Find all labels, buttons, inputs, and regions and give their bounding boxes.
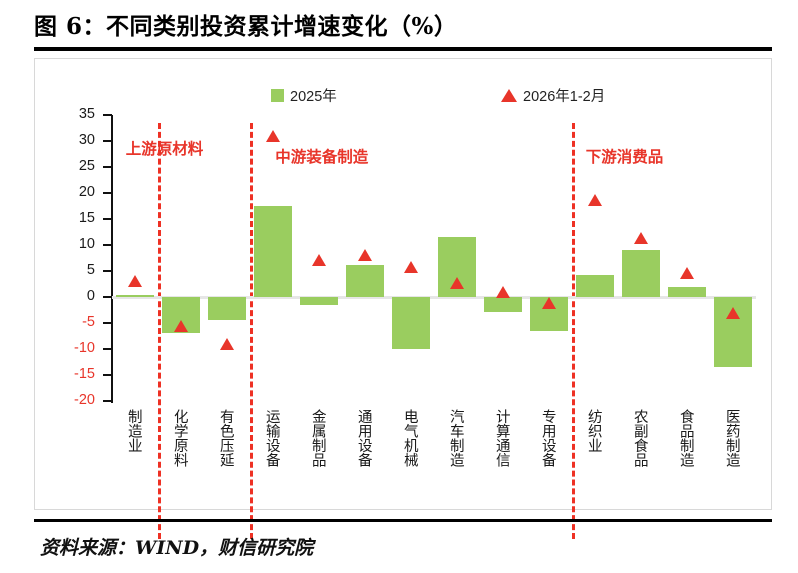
x-axis-label-纺织业: 纺织业: [586, 409, 601, 453]
legend-item-2025: 2025年: [271, 85, 337, 106]
bar-农副食品: [622, 250, 660, 297]
source-note: 资料来源：WIND，财信研究院: [40, 533, 313, 560]
y-axis-tick: [103, 114, 112, 116]
y-axis-tick-label: 10: [55, 236, 95, 252]
y-axis-tick: [103, 296, 112, 298]
x-axis-label-制造业: 制造业: [126, 409, 141, 453]
y-axis-tick: [103, 400, 112, 402]
chart-container: 2025年 2026年1-2月 35302520151050-5-10-15-2…: [34, 58, 772, 510]
x-axis-label-电气机械: 电气机械: [402, 409, 417, 467]
bar-电气机械: [392, 297, 430, 349]
bar-纺织业: [576, 275, 614, 297]
figure-page: 图 6：不同类别投资累计增速变化（%） 2025年 2026年1-2月 3530…: [0, 0, 798, 573]
x-axis-label-有色压延: 有色压延: [218, 409, 233, 467]
y-axis-tick-label: 30: [55, 132, 95, 148]
x-axis-label-化学原料: 化学原料: [172, 409, 187, 467]
y-axis-tick-label: -5: [55, 314, 95, 330]
marker-纺织业: [588, 194, 602, 206]
bar-食品制造: [668, 287, 706, 297]
triangle-swatch-icon: [501, 89, 517, 102]
x-axis-label-专用设备: 专用设备: [540, 409, 555, 467]
bar-有色压延: [208, 297, 246, 320]
y-axis-tick-label: -10: [55, 340, 95, 356]
x-axis-label-金属制品: 金属制品: [310, 409, 325, 467]
y-axis-tick: [103, 348, 112, 350]
y-axis-tick-label: 5: [55, 262, 95, 278]
y-axis-tick-label: 25: [55, 158, 95, 174]
title-divider-rule: [34, 47, 772, 51]
y-axis-tick: [103, 270, 112, 272]
x-axis-label-医药制造: 医药制造: [724, 409, 739, 467]
bar-运输设备: [254, 206, 292, 297]
footer-divider-rule: [34, 519, 772, 522]
figure-title-container: 图 6：不同类别投资累计增速变化（%）: [34, 10, 774, 48]
x-axis-label-通用设备: 通用设备: [356, 409, 371, 467]
legend-label-2026: 2026年1-2月: [523, 85, 605, 106]
legend-label-2025: 2025年: [290, 85, 337, 106]
marker-汽车制造: [450, 277, 464, 289]
page-title: 图 6：不同类别投资累计增速变化（%）: [34, 10, 774, 44]
y-axis-tick: [103, 244, 112, 246]
y-axis-tick: [103, 140, 112, 142]
y-axis-tick-label: 35: [55, 106, 95, 122]
y-axis-tick: [103, 192, 112, 194]
x-axis-label-计算通信: 计算通信: [494, 409, 509, 467]
y-axis-tick-label: 0: [55, 288, 95, 304]
marker-专用设备: [542, 297, 556, 309]
bar-通用设备: [346, 265, 384, 297]
bar-计算通信: [484, 297, 522, 312]
y-axis-tick: [103, 218, 112, 220]
marker-制造业: [128, 275, 142, 287]
marker-电气机械: [404, 261, 418, 273]
y-axis-tick-label: -20: [55, 392, 95, 408]
y-axis-tick: [103, 374, 112, 376]
marker-化学原料: [174, 320, 188, 332]
marker-计算通信: [496, 286, 510, 298]
x-axis-label-农副食品: 农副食品: [632, 409, 647, 467]
marker-运输设备: [266, 130, 280, 142]
x-axis-label-汽车制造: 汽车制造: [448, 409, 463, 467]
marker-金属制品: [312, 254, 326, 266]
marker-通用设备: [358, 249, 372, 261]
legend-item-2026: 2026年1-2月: [501, 85, 605, 106]
bar-制造业: [116, 295, 154, 297]
bar-金属制品: [300, 297, 338, 305]
y-axis-tick: [103, 322, 112, 324]
chart-legend: 2025年 2026年1-2月: [35, 85, 771, 107]
square-swatch-icon: [271, 89, 284, 102]
marker-有色压延: [220, 338, 234, 350]
y-axis-tick-label: 15: [55, 210, 95, 226]
marker-医药制造: [726, 307, 740, 319]
y-axis-tick-label: 20: [55, 184, 95, 200]
x-axis-label-运输设备: 运输设备: [264, 409, 279, 467]
plot-area: [112, 115, 756, 401]
marker-农副食品: [634, 232, 648, 244]
y-axis-tick-label: -15: [55, 366, 95, 382]
x-axis-label-食品制造: 食品制造: [678, 409, 693, 467]
y-axis-tick: [103, 166, 112, 168]
marker-食品制造: [680, 267, 694, 279]
